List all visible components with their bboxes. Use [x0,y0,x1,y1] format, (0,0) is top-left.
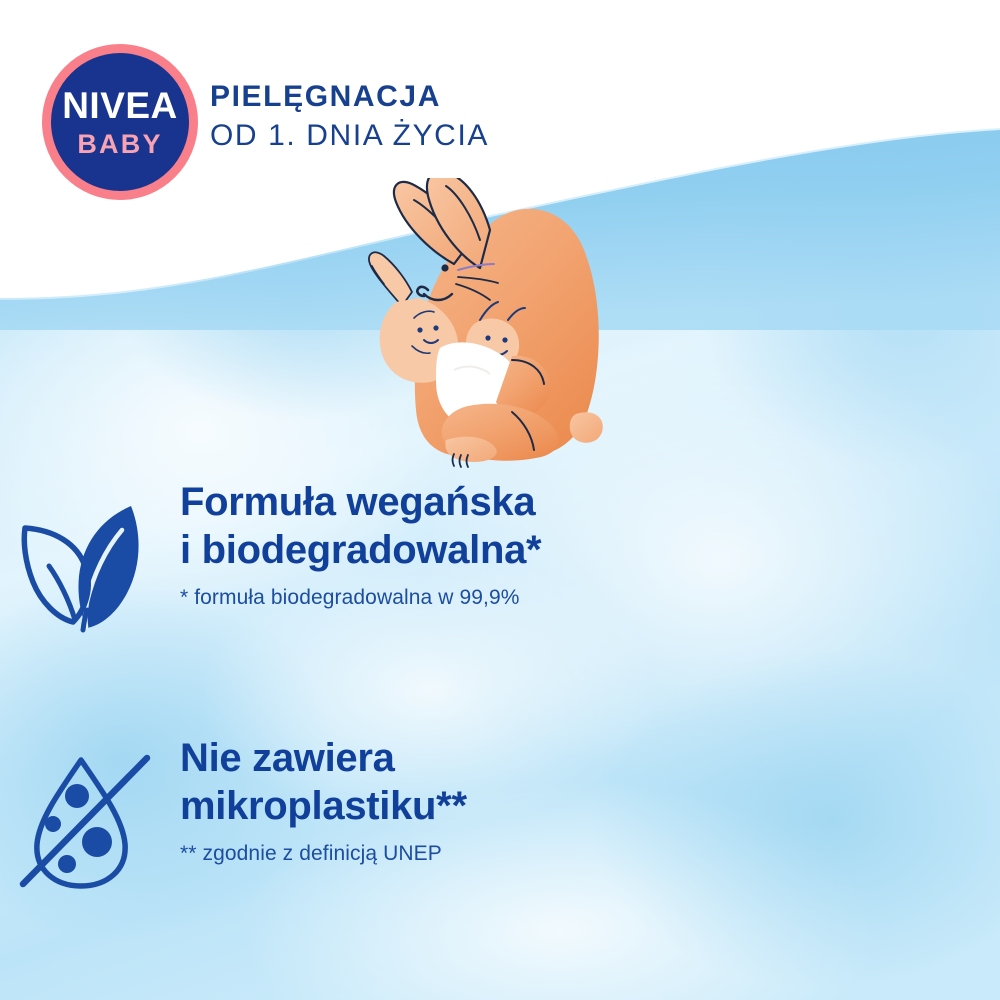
benefit-title: Formuła wegańska i biodegradowalna* [180,478,541,574]
benefit-icon-wrap [0,734,180,892]
headline-line-1: PIELĘGNACJA [210,80,489,115]
benefit-icon-wrap [0,478,180,636]
benefits-list: Formuła wegańska i biodegradowalna* * fo… [0,478,1000,892]
benefit-item-microplastic: Nie zawiera mikroplastiku** ** zgodnie z… [0,734,1000,892]
benefit-text-wrap: Formuła wegańska i biodegradowalna* * fo… [180,478,541,611]
benefit-footnote: ** zgodnie z definicją UNEP [180,841,467,867]
page-title: PIELĘGNACJA OD 1. DNIA ŻYCIA [210,80,489,154]
headline-line-2: OD 1. DNIA ŻYCIA [210,119,489,154]
banner-header: NIVEA BABY PIELĘGNACJA OD 1. DNIA ŻYCIA [0,0,1000,230]
nivea-baby-logo: NIVEA BABY [42,44,198,200]
logo-baby-text: BABY [77,131,162,158]
benefit-footnote: * formuła biodegradowalna w 99,9% [180,585,541,611]
logo-disc: NIVEA BABY [51,53,189,191]
benefit-text-wrap: Nie zawiera mikroplastiku** ** zgodnie z… [180,734,467,867]
benefit-item-vegan: Formuła wegańska i biodegradowalna* * fo… [0,478,1000,636]
nivea-baby-promo-banner: NIVEA BABY PIELĘGNACJA OD 1. DNIA ŻYCIA [0,0,1000,1000]
no-microplastic-droplet-icon [15,752,165,892]
logo-nivea-text: NIVEA [62,87,178,124]
leaves-icon [15,496,165,636]
benefit-title: Nie zawiera mikroplastiku** [180,734,467,830]
